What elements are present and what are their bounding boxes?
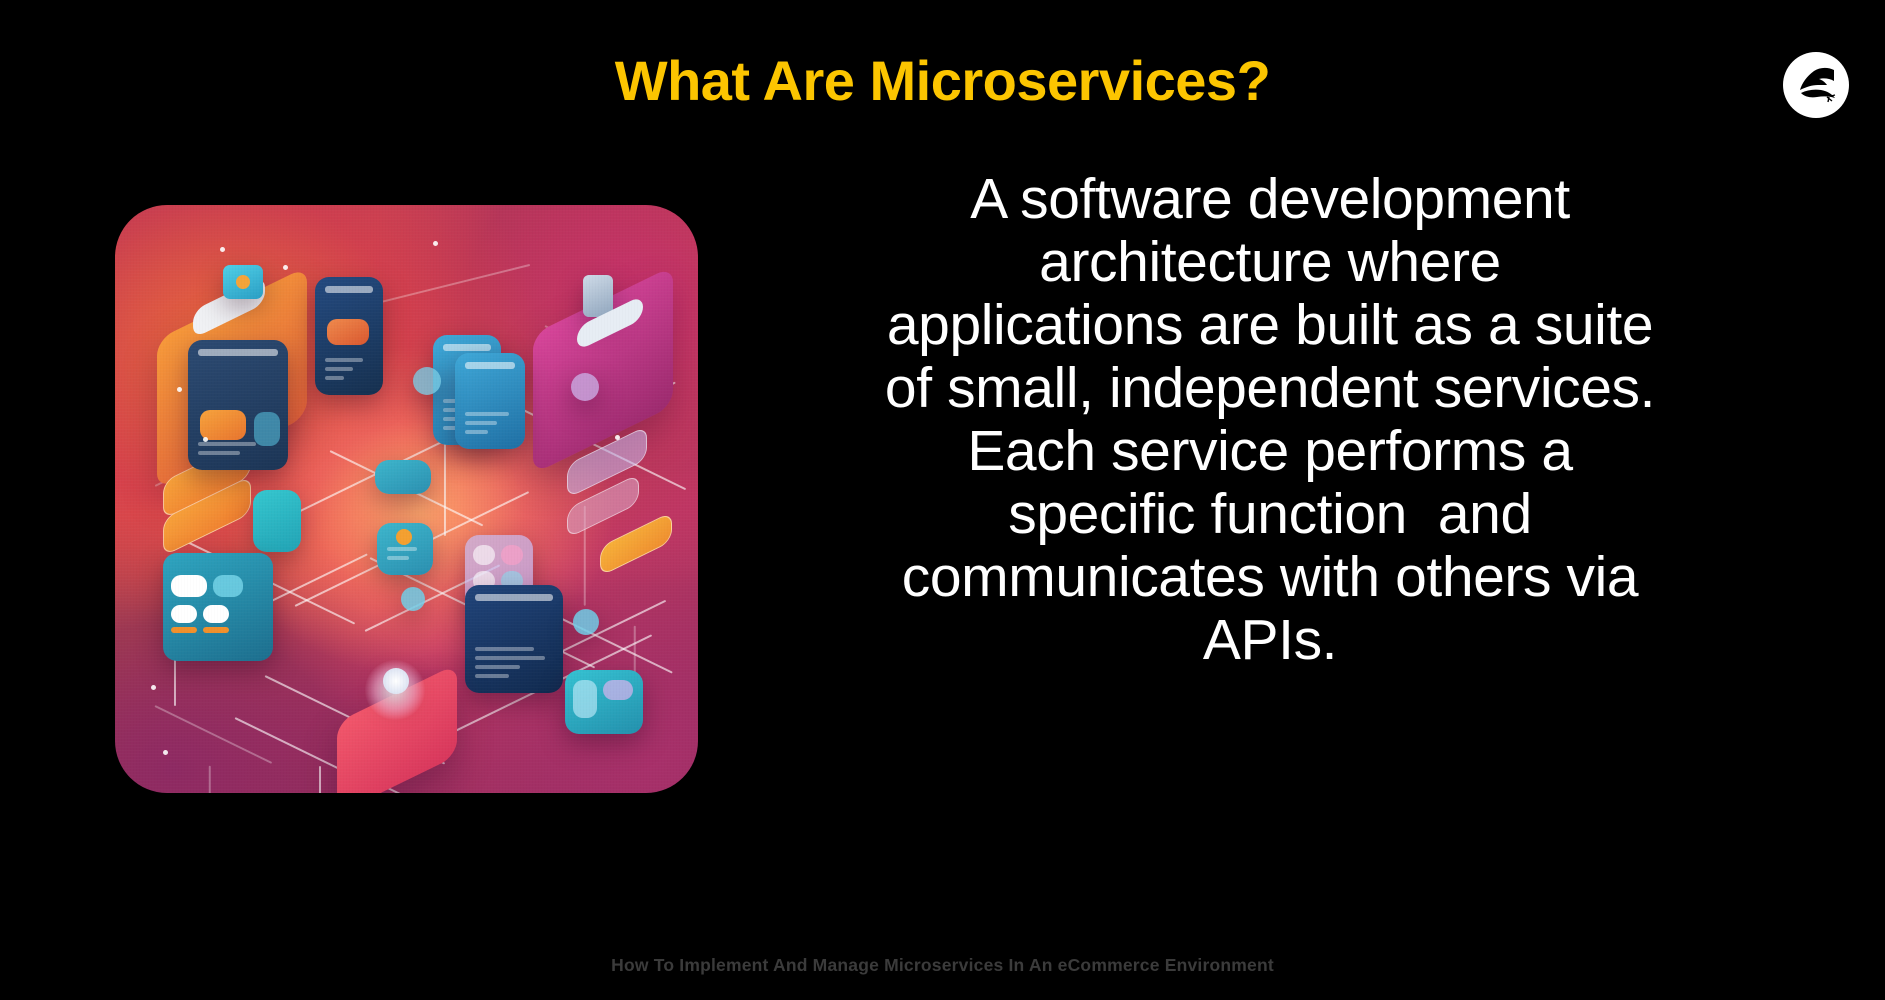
microservices-illustration (115, 205, 698, 793)
footer-caption: How To Implement And Manage Microservice… (0, 955, 1885, 976)
page-title: What Are Microservices? (0, 52, 1885, 111)
body-paragraph: A software development architecture wher… (760, 168, 1780, 672)
illustration-canvas (115, 205, 698, 793)
brand-bird-logo-icon (1794, 63, 1838, 107)
brand-logo[interactable] (1783, 52, 1849, 118)
illustration-grain (115, 205, 698, 793)
